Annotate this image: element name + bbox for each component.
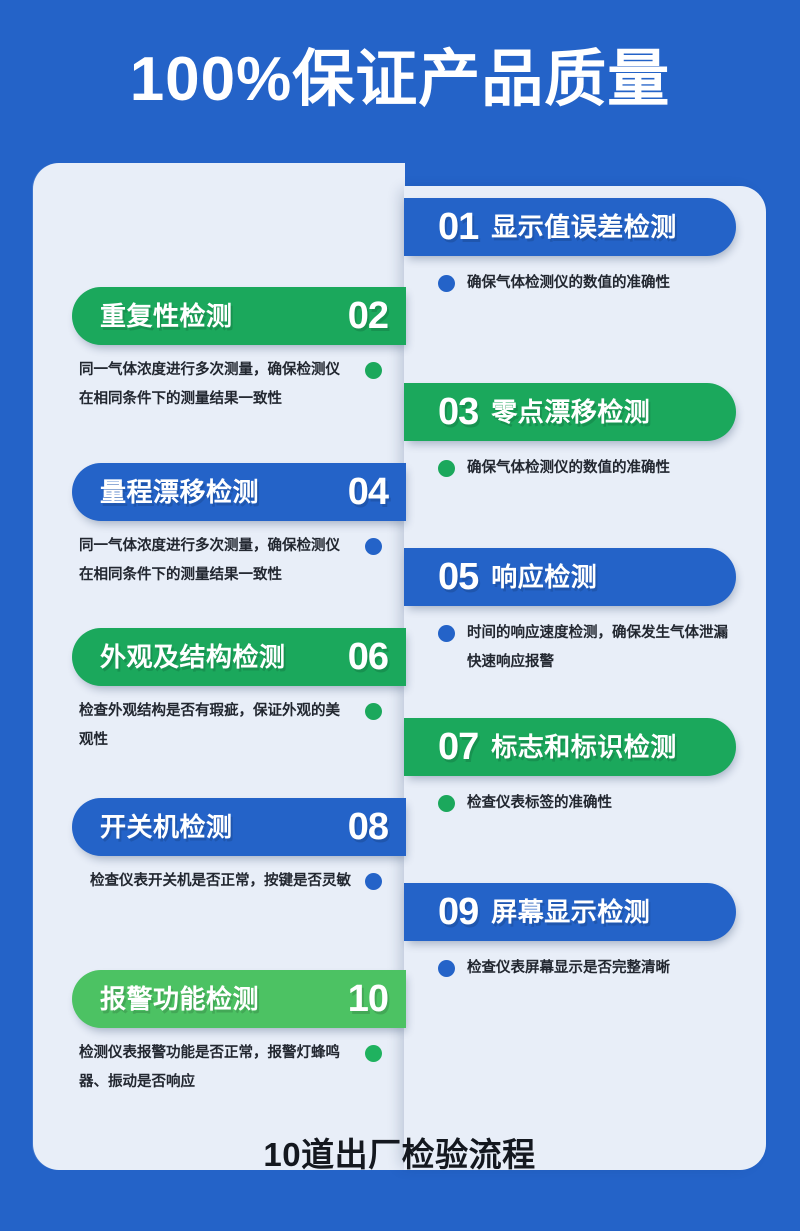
item-header-bar-07: 07标志和标识检测 bbox=[404, 718, 736, 776]
item-description-03: 确保气体检测仪的数值的准确性 bbox=[404, 441, 766, 483]
item-header-bar-06: 外观及结构检测06 bbox=[72, 628, 406, 686]
bullet-dot-icon bbox=[438, 795, 455, 812]
item-header-bar-02: 重复性检测02 bbox=[72, 287, 406, 345]
checklist-item-06: 外观及结构检测06检查外观结构是否有瑕疵，保证外观的美观性 bbox=[32, 628, 406, 755]
item-description-text-03: 确保气体检测仪的数值的准确性 bbox=[467, 454, 670, 483]
bullet-dot-icon bbox=[438, 960, 455, 977]
checklist-item-05: 05响应检测时间的响应速度检测，确保发生气体泄漏快速响应报警 bbox=[404, 548, 766, 677]
item-number-02: 02 bbox=[348, 297, 388, 335]
item-description-09: 检查仪表屏幕显示是否完整清晰 bbox=[404, 941, 766, 983]
item-title-05: 响应检测 bbox=[491, 564, 597, 590]
bullet-dot-icon bbox=[438, 275, 455, 292]
checklist-item-04: 量程漂移检测04同一气体浓度进行多次测量，确保检测仪在相同条件下的测量结果一致性 bbox=[32, 463, 406, 590]
item-description-text-08: 检查仪表开关机是否正常，按键是否灵敏 bbox=[90, 867, 351, 896]
item-number-09: 09 bbox=[438, 893, 478, 931]
item-description-text-01: 确保气体检测仪的数值的准确性 bbox=[467, 269, 670, 298]
item-description-text-06: 检查外观结构是否有瑕疵，保证外观的美观性 bbox=[79, 697, 351, 755]
right-column-panel bbox=[404, 186, 766, 1170]
item-title-07: 标志和标识检测 bbox=[491, 734, 677, 760]
bullet-dot-icon bbox=[438, 625, 455, 642]
item-header-bar-10: 报警功能检测10 bbox=[72, 970, 406, 1028]
item-description-10: 检测仪表报警功能是否正常，报警灯蜂鸣器、振动是否响应 bbox=[32, 1028, 406, 1097]
item-description-06: 检查外观结构是否有瑕疵，保证外观的美观性 bbox=[32, 686, 406, 755]
checklist-item-08: 开关机检测08检查仪表开关机是否正常，按键是否灵敏 bbox=[32, 798, 406, 896]
item-title-02: 重复性检测 bbox=[100, 303, 233, 329]
item-header-bar-04: 量程漂移检测04 bbox=[72, 463, 406, 521]
item-description-text-04: 同一气体浓度进行多次测量，确保检测仪在相同条件下的测量结果一致性 bbox=[79, 532, 351, 590]
page-title: 100%保证产品质量 bbox=[130, 49, 671, 111]
footer-title: 10道出厂检验流程 bbox=[263, 1128, 535, 1176]
item-description-text-10: 检测仪表报警功能是否正常，报警灯蜂鸣器、振动是否响应 bbox=[79, 1039, 351, 1097]
item-number-04: 04 bbox=[348, 473, 388, 511]
item-number-07: 07 bbox=[438, 728, 478, 766]
item-number-06: 06 bbox=[348, 638, 388, 676]
checklist-item-03: 03零点漂移检测确保气体检测仪的数值的准确性 bbox=[404, 383, 766, 483]
item-description-08: 检查仪表开关机是否正常，按键是否灵敏 bbox=[32, 856, 406, 896]
item-header-bar-09: 09屏幕显示检测 bbox=[404, 883, 736, 941]
item-header-bar-03: 03零点漂移检测 bbox=[404, 383, 736, 441]
item-description-05: 时间的响应速度检测，确保发生气体泄漏快速响应报警 bbox=[404, 606, 766, 677]
item-number-08: 08 bbox=[348, 808, 388, 846]
bullet-dot-icon bbox=[438, 460, 455, 477]
item-header-bar-05: 05响应检测 bbox=[404, 548, 736, 606]
checklist-item-07: 07标志和标识检测检查仪表标签的准确性 bbox=[404, 718, 766, 818]
bullet-dot-icon bbox=[365, 703, 382, 720]
item-description-04: 同一气体浓度进行多次测量，确保检测仪在相同条件下的测量结果一致性 bbox=[32, 521, 406, 590]
item-description-text-09: 检查仪表屏幕显示是否完整清晰 bbox=[467, 954, 670, 983]
item-title-09: 屏幕显示检测 bbox=[491, 899, 650, 925]
item-description-text-07: 检查仪表标签的准确性 bbox=[467, 789, 612, 818]
checklist-item-10: 报警功能检测10检测仪表报警功能是否正常，报警灯蜂鸣器、振动是否响应 bbox=[32, 970, 406, 1097]
item-description-text-05: 时间的响应速度检测，确保发生气体泄漏快速响应报警 bbox=[467, 619, 739, 677]
item-title-06: 外观及结构检测 bbox=[100, 644, 286, 670]
item-description-02: 同一气体浓度进行多次测量，确保检测仪在相同条件下的测量结果一致性 bbox=[32, 345, 406, 414]
bullet-dot-icon bbox=[365, 1045, 382, 1062]
item-header-bar-08: 开关机检测08 bbox=[72, 798, 406, 856]
page-header: 100%保证产品质量 bbox=[0, 0, 800, 160]
item-number-01: 01 bbox=[438, 208, 478, 246]
bullet-dot-icon bbox=[365, 873, 382, 890]
item-number-05: 05 bbox=[438, 558, 478, 596]
item-title-08: 开关机检测 bbox=[100, 814, 233, 840]
checklist-item-01: 01显示值误差检测确保气体检测仪的数值的准确性 bbox=[404, 198, 766, 298]
page-footer: 10道出厂检验流程 bbox=[33, 1120, 766, 1184]
checklist-item-02: 重复性检测02同一气体浓度进行多次测量，确保检测仪在相同条件下的测量结果一致性 bbox=[32, 287, 406, 414]
item-number-10: 10 bbox=[348, 980, 388, 1018]
item-number-03: 03 bbox=[438, 393, 478, 431]
item-description-text-02: 同一气体浓度进行多次测量，确保检测仪在相同条件下的测量结果一致性 bbox=[79, 356, 351, 414]
item-title-01: 显示值误差检测 bbox=[491, 214, 677, 240]
bullet-dot-icon bbox=[365, 538, 382, 555]
checklist-item-09: 09屏幕显示检测检查仪表屏幕显示是否完整清晰 bbox=[404, 883, 766, 983]
item-description-01: 确保气体检测仪的数值的准确性 bbox=[404, 256, 766, 298]
item-header-bar-01: 01显示值误差检测 bbox=[404, 198, 736, 256]
bullet-dot-icon bbox=[365, 362, 382, 379]
item-title-10: 报警功能检测 bbox=[100, 986, 259, 1012]
item-description-07: 检查仪表标签的准确性 bbox=[404, 776, 766, 818]
item-title-04: 量程漂移检测 bbox=[100, 479, 259, 505]
item-title-03: 零点漂移检测 bbox=[491, 399, 650, 425]
checklist-board: 01显示值误差检测确保气体检测仪的数值的准确性重复性检测02同一气体浓度进行多次… bbox=[33, 163, 766, 1170]
